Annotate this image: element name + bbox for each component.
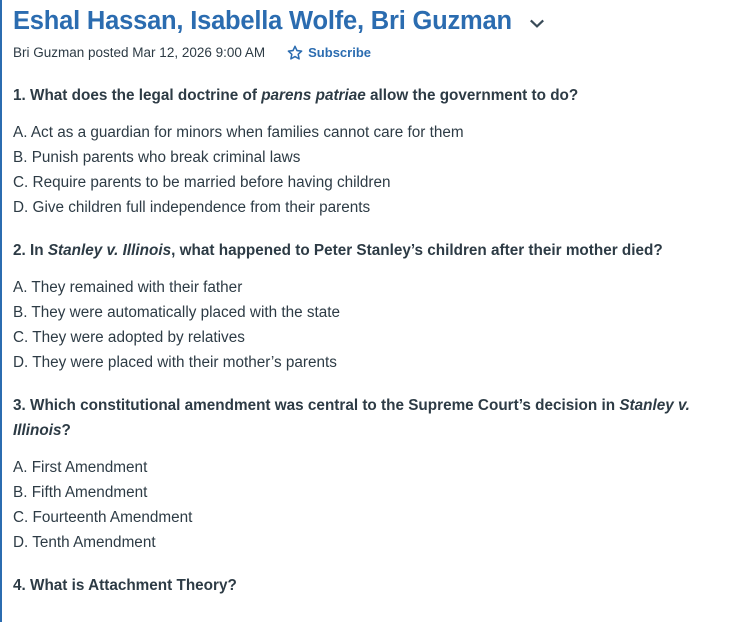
question-option: C. Fourteenth Amendment xyxy=(13,505,718,530)
question-option: A. Act as a guardian for minors when fam… xyxy=(13,120,718,145)
question-option: B. They were automatically placed with t… xyxy=(13,300,718,325)
question-option: A. They remained with their father xyxy=(13,275,718,300)
question-prompt-emphasis: parens patriae xyxy=(261,87,366,104)
question-option: C. Require parents to be married before … xyxy=(13,170,718,195)
question-prompt-text: 4. What is Attachment Theory? xyxy=(13,577,237,594)
question-prompt-text: 3. Which constitutional amendment was ce… xyxy=(13,397,619,414)
question-option: D. Tenth Amendment xyxy=(13,530,718,555)
question-prompt: 1. What does the legal doctrine of paren… xyxy=(13,83,713,108)
question-option: C. They were adopted by relatives xyxy=(13,325,718,350)
subscribe-button[interactable]: Subscribe xyxy=(287,45,371,61)
topic-header: Eshal Hassan, Isabella Wolfe, Bri Guzman xyxy=(13,0,718,37)
question-block: 1. What does the legal doctrine of paren… xyxy=(13,83,718,220)
page-title: Eshal Hassan, Isabella Wolfe, Bri Guzman xyxy=(13,5,512,37)
chevron-down-icon[interactable] xyxy=(527,14,547,34)
question-block: 4. What is Attachment Theory? xyxy=(13,573,718,598)
question-block: 2. In Stanley v. Illinois, what happened… xyxy=(13,238,718,375)
question-option: B. Punish parents who break criminal law… xyxy=(13,145,718,170)
question-prompt: 2. In Stanley v. Illinois, what happened… xyxy=(13,238,713,263)
question-prompt: 4. What is Attachment Theory? xyxy=(13,573,713,598)
question-prompt-text: ? xyxy=(61,422,70,439)
question-prompt-text: allow the government to do? xyxy=(366,87,578,104)
question-option: D. Give children full independence from … xyxy=(13,195,718,220)
discussion-message-body: 1. What does the legal doctrine of paren… xyxy=(13,83,718,598)
subscribe-label: Subscribe xyxy=(308,45,371,61)
question-prompt-emphasis: Stanley v. Illinois xyxy=(48,242,171,259)
question-prompt-text: , what happened to Peter Stanley’s child… xyxy=(171,242,663,259)
posted-timestamp: Bri Guzman posted Mar 12, 2026 9:00 AM xyxy=(13,44,265,62)
question-option: A. First Amendment xyxy=(13,455,718,480)
question-option: D. They were placed with their mother’s … xyxy=(13,350,718,375)
topic-meta: Bri Guzman posted Mar 12, 2026 9:00 AM S… xyxy=(13,44,718,62)
question-block: 3. Which constitutional amendment was ce… xyxy=(13,393,718,555)
question-prompt: 3. Which constitutional amendment was ce… xyxy=(13,393,713,443)
discussion-page: Eshal Hassan, Isabella Wolfe, Bri Guzman… xyxy=(0,0,730,622)
question-prompt-text: 1. What does the legal doctrine of xyxy=(13,87,261,104)
question-option: B. Fifth Amendment xyxy=(13,480,718,505)
star-outline-icon xyxy=(287,45,303,61)
question-prompt-text: 2. In xyxy=(13,242,48,259)
discussion-content: Eshal Hassan, Isabella Wolfe, Bri Guzman… xyxy=(2,0,730,598)
